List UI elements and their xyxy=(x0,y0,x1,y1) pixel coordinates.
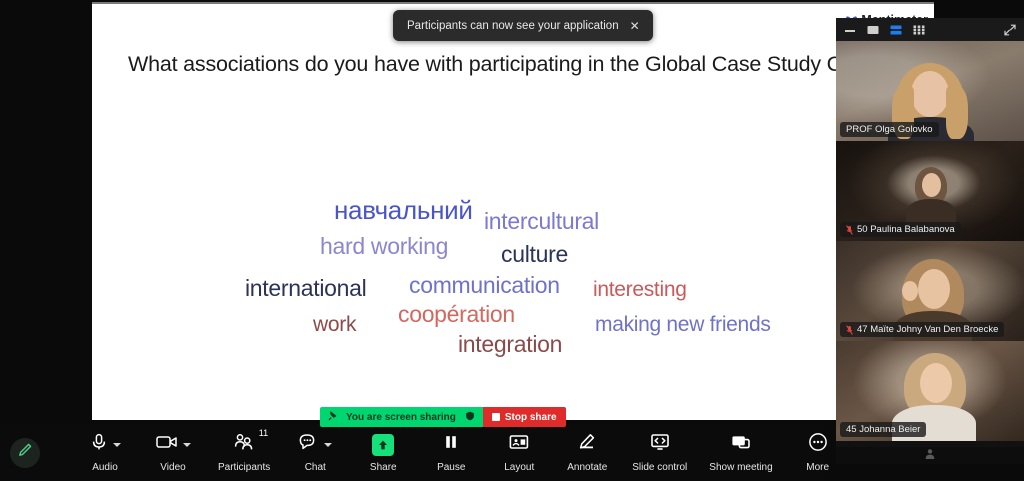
participant-name: PROF Olga Golovko xyxy=(846,124,933,135)
toolbar-button-label: Video xyxy=(160,462,185,473)
toolbar-button-layout[interactable]: Layout xyxy=(496,433,542,473)
word-cloud-term: culture xyxy=(501,243,568,266)
layout-icon xyxy=(508,433,530,456)
strip-view-icon[interactable] xyxy=(889,24,903,36)
toolbar-button-chat[interactable]: Chat xyxy=(292,433,338,473)
panel-footer-strip xyxy=(836,447,1024,464)
annotate-toggle-button[interactable] xyxy=(10,438,40,468)
word-cloud-term: interesting xyxy=(593,279,687,300)
participant-name-label: 47 Maïte Johny Van Den Broecke xyxy=(840,322,1004,337)
expand-icon[interactable] xyxy=(1003,23,1017,37)
word-cloud-term: coopération xyxy=(398,303,515,326)
show-meeting-icon xyxy=(730,433,752,456)
sharing-label: You are screen sharing xyxy=(346,412,456,423)
stop-share-label: Stop share xyxy=(505,412,557,423)
speaker-view-icon[interactable] xyxy=(866,24,880,36)
chevron-down-icon[interactable] xyxy=(324,443,332,447)
shared-screen-slide: Mentimeter What associations do you have… xyxy=(92,2,934,420)
video-tile[interactable]: PROF Olga Golovko xyxy=(836,41,1024,141)
screen-share-status-bar: You are screen sharing Stop share xyxy=(320,407,566,427)
toolbar-button-label: Chat xyxy=(305,462,326,473)
toolbar-button-label: Audio xyxy=(92,462,118,473)
toolbar-button-label: Slide control xyxy=(632,462,687,473)
toolbar-button-label: Share xyxy=(370,462,397,473)
participants-count-badge: 11 xyxy=(259,428,268,438)
video-layout-controls xyxy=(836,18,1024,41)
toast-message: Participants can now see your applicatio… xyxy=(407,20,619,32)
stop-share-button[interactable]: Stop share xyxy=(483,407,566,427)
shield-icon xyxy=(465,411,475,424)
zoom-share-window: Mentimeter What associations do you have… xyxy=(0,0,1024,481)
close-icon[interactable]: ✕ xyxy=(627,18,643,34)
share-up-icon xyxy=(372,434,394,456)
toolbar-items: AudioVideo11ParticipantsChatSharePauseLa… xyxy=(82,433,841,473)
word-cloud-term: навчальний xyxy=(334,197,473,223)
video-tile[interactable]: 50 Paulina Balabanova xyxy=(836,141,1024,241)
toolbar-button-label: Layout xyxy=(504,462,534,473)
toolbar-button-label: Pause xyxy=(437,462,465,473)
person-silhouette-icon xyxy=(924,447,936,465)
word-cloud-term: international xyxy=(245,277,366,300)
toolbar-button-annotate[interactable]: Annotate xyxy=(564,433,610,473)
chat-icon xyxy=(298,432,320,457)
camera-icon xyxy=(155,433,179,456)
toolbar-button-audio[interactable]: Audio xyxy=(82,433,128,473)
meeting-toolbar: AudioVideo11ParticipantsChatSharePauseLa… xyxy=(0,424,824,481)
toolbar-button-label: Show meeting xyxy=(709,462,772,473)
pencil-icon xyxy=(17,442,33,463)
sharing-toast: Participants can now see your applicatio… xyxy=(393,10,653,41)
participant-name-label: PROF Olga Golovko xyxy=(840,122,939,137)
toolbar-button-video[interactable]: Video xyxy=(150,433,196,473)
video-sidebar: PROF Olga Golovko 50 Pau xyxy=(836,18,1024,464)
slide-control-icon xyxy=(649,432,671,457)
participant-name-label: 50 Paulina Balabanova xyxy=(840,222,961,237)
participant-name: 45 Johanna Beier xyxy=(846,424,920,435)
microphone-muted-icon xyxy=(846,225,853,235)
word-cloud-term: work xyxy=(313,314,356,335)
toolbar-button-participants[interactable]: 11Participants xyxy=(218,433,270,473)
more-dots-icon xyxy=(808,432,828,457)
toolbar-button-more[interactable]: More xyxy=(795,433,841,473)
toolbar-button-label: Participants xyxy=(218,462,270,473)
video-tile[interactable]: 47 Maïte Johny Van Den Broecke xyxy=(836,241,1024,341)
pin-icon xyxy=(328,411,337,424)
chevron-down-icon[interactable] xyxy=(183,443,191,447)
video-tile[interactable]: 45 Johanna Beier xyxy=(836,341,1024,441)
participant-name-label: 45 Johanna Beier xyxy=(840,422,926,437)
toolbar-button-pause[interactable]: Pause xyxy=(428,433,474,473)
sharing-indicator: You are screen sharing xyxy=(320,407,483,427)
word-cloud-term: integration xyxy=(458,333,562,356)
toolbar-button-share[interactable]: Share xyxy=(360,433,406,473)
microphone-muted-icon xyxy=(846,325,853,335)
word-cloud-term: making new friends xyxy=(595,314,771,335)
stop-square-icon xyxy=(492,413,500,421)
participants-icon xyxy=(233,432,255,457)
chevron-down-icon[interactable] xyxy=(113,443,121,447)
word-cloud: навчальнийinterculturalhard workingcultu… xyxy=(92,4,934,420)
word-cloud-term: communication xyxy=(409,274,560,297)
microphone-icon xyxy=(89,432,109,457)
word-cloud-term: hard working xyxy=(320,235,448,258)
annotate-pencil-icon xyxy=(577,432,597,457)
participant-name: 47 Maïte Johny Van Den Broecke xyxy=(857,324,998,335)
minimize-icon[interactable] xyxy=(843,24,857,36)
grid-view-icon[interactable] xyxy=(912,24,926,36)
participant-name: 50 Paulina Balabanova xyxy=(857,224,955,235)
toolbar-button-label: More xyxy=(806,462,829,473)
pause-icon xyxy=(442,433,460,456)
toolbar-button-label: Annotate xyxy=(567,462,607,473)
word-cloud-term: intercultural xyxy=(484,210,599,233)
toolbar-button-show-meeting[interactable]: Show meeting xyxy=(709,433,772,473)
toolbar-button-slide-control[interactable]: Slide control xyxy=(632,433,687,473)
